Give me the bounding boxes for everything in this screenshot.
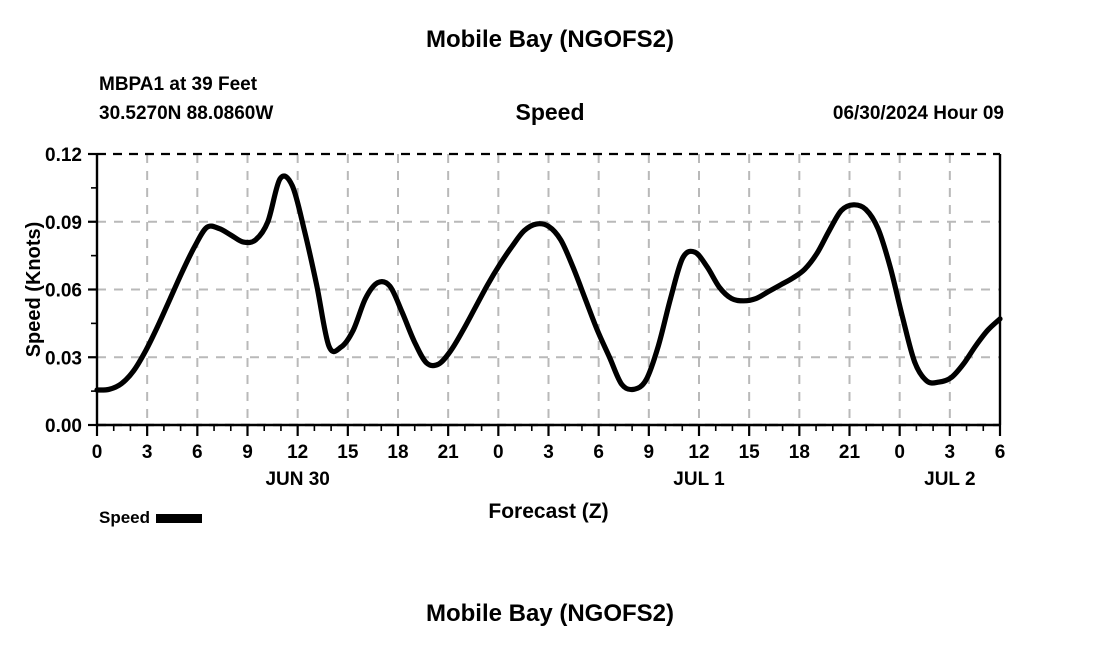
xtick-label: 9 <box>644 442 655 463</box>
xtick-label: 3 <box>543 442 554 463</box>
xtick-label: 18 <box>387 442 408 463</box>
tick-layer <box>88 154 1000 436</box>
xtick-label: 21 <box>438 442 460 463</box>
label-layer: 0.000.030.060.090.1203691215182103691215… <box>23 145 1005 523</box>
yaxis-title: Speed (Knots) <box>23 222 45 358</box>
xaxis-day-label: JUN 30 <box>265 469 329 490</box>
ytick-label: 0.06 <box>45 281 82 302</box>
page-title-bottom: Mobile Bay (NGOFS2) <box>0 600 1100 628</box>
xtick-label: 0 <box>894 442 905 463</box>
speed-time-series-chart: 0.000.030.060.090.1203691215182103691215… <box>0 0 1100 560</box>
xaxis-title: Forecast (Z) <box>488 500 608 523</box>
ytick-label: 0.00 <box>45 416 82 437</box>
ytick-label: 0.09 <box>45 213 82 234</box>
chart-container: 0.000.030.060.090.1203691215182103691215… <box>0 0 1100 560</box>
xtick-label: 6 <box>593 442 604 463</box>
xtick-label: 0 <box>493 442 504 463</box>
legend-label-speed: Speed <box>99 508 150 528</box>
xaxis-day-label: JUL 2 <box>924 469 975 490</box>
xtick-label: 12 <box>287 442 308 463</box>
legend-line-swatch <box>156 514 202 523</box>
chart-legend: Speed <box>99 508 202 528</box>
ytick-label: 0.03 <box>45 348 82 369</box>
xtick-label: 21 <box>839 442 861 463</box>
xtick-label: 6 <box>192 442 203 463</box>
xtick-label: 18 <box>789 442 810 463</box>
xtick-label: 15 <box>337 442 359 463</box>
xtick-label: 9 <box>242 442 253 463</box>
grid-layer <box>97 154 1000 425</box>
xtick-label: 3 <box>142 442 153 463</box>
xtick-label: 3 <box>945 442 956 463</box>
xtick-label: 15 <box>739 442 761 463</box>
chart-page: Mobile Bay (NGOFS2) MBPA1 at 39 Feet 30.… <box>0 0 1100 650</box>
xtick-label: 0 <box>92 442 103 463</box>
xtick-label: 12 <box>688 442 709 463</box>
xaxis-day-label: JUL 1 <box>673 469 725 490</box>
ytick-label: 0.12 <box>45 145 82 166</box>
xtick-label: 6 <box>995 442 1006 463</box>
